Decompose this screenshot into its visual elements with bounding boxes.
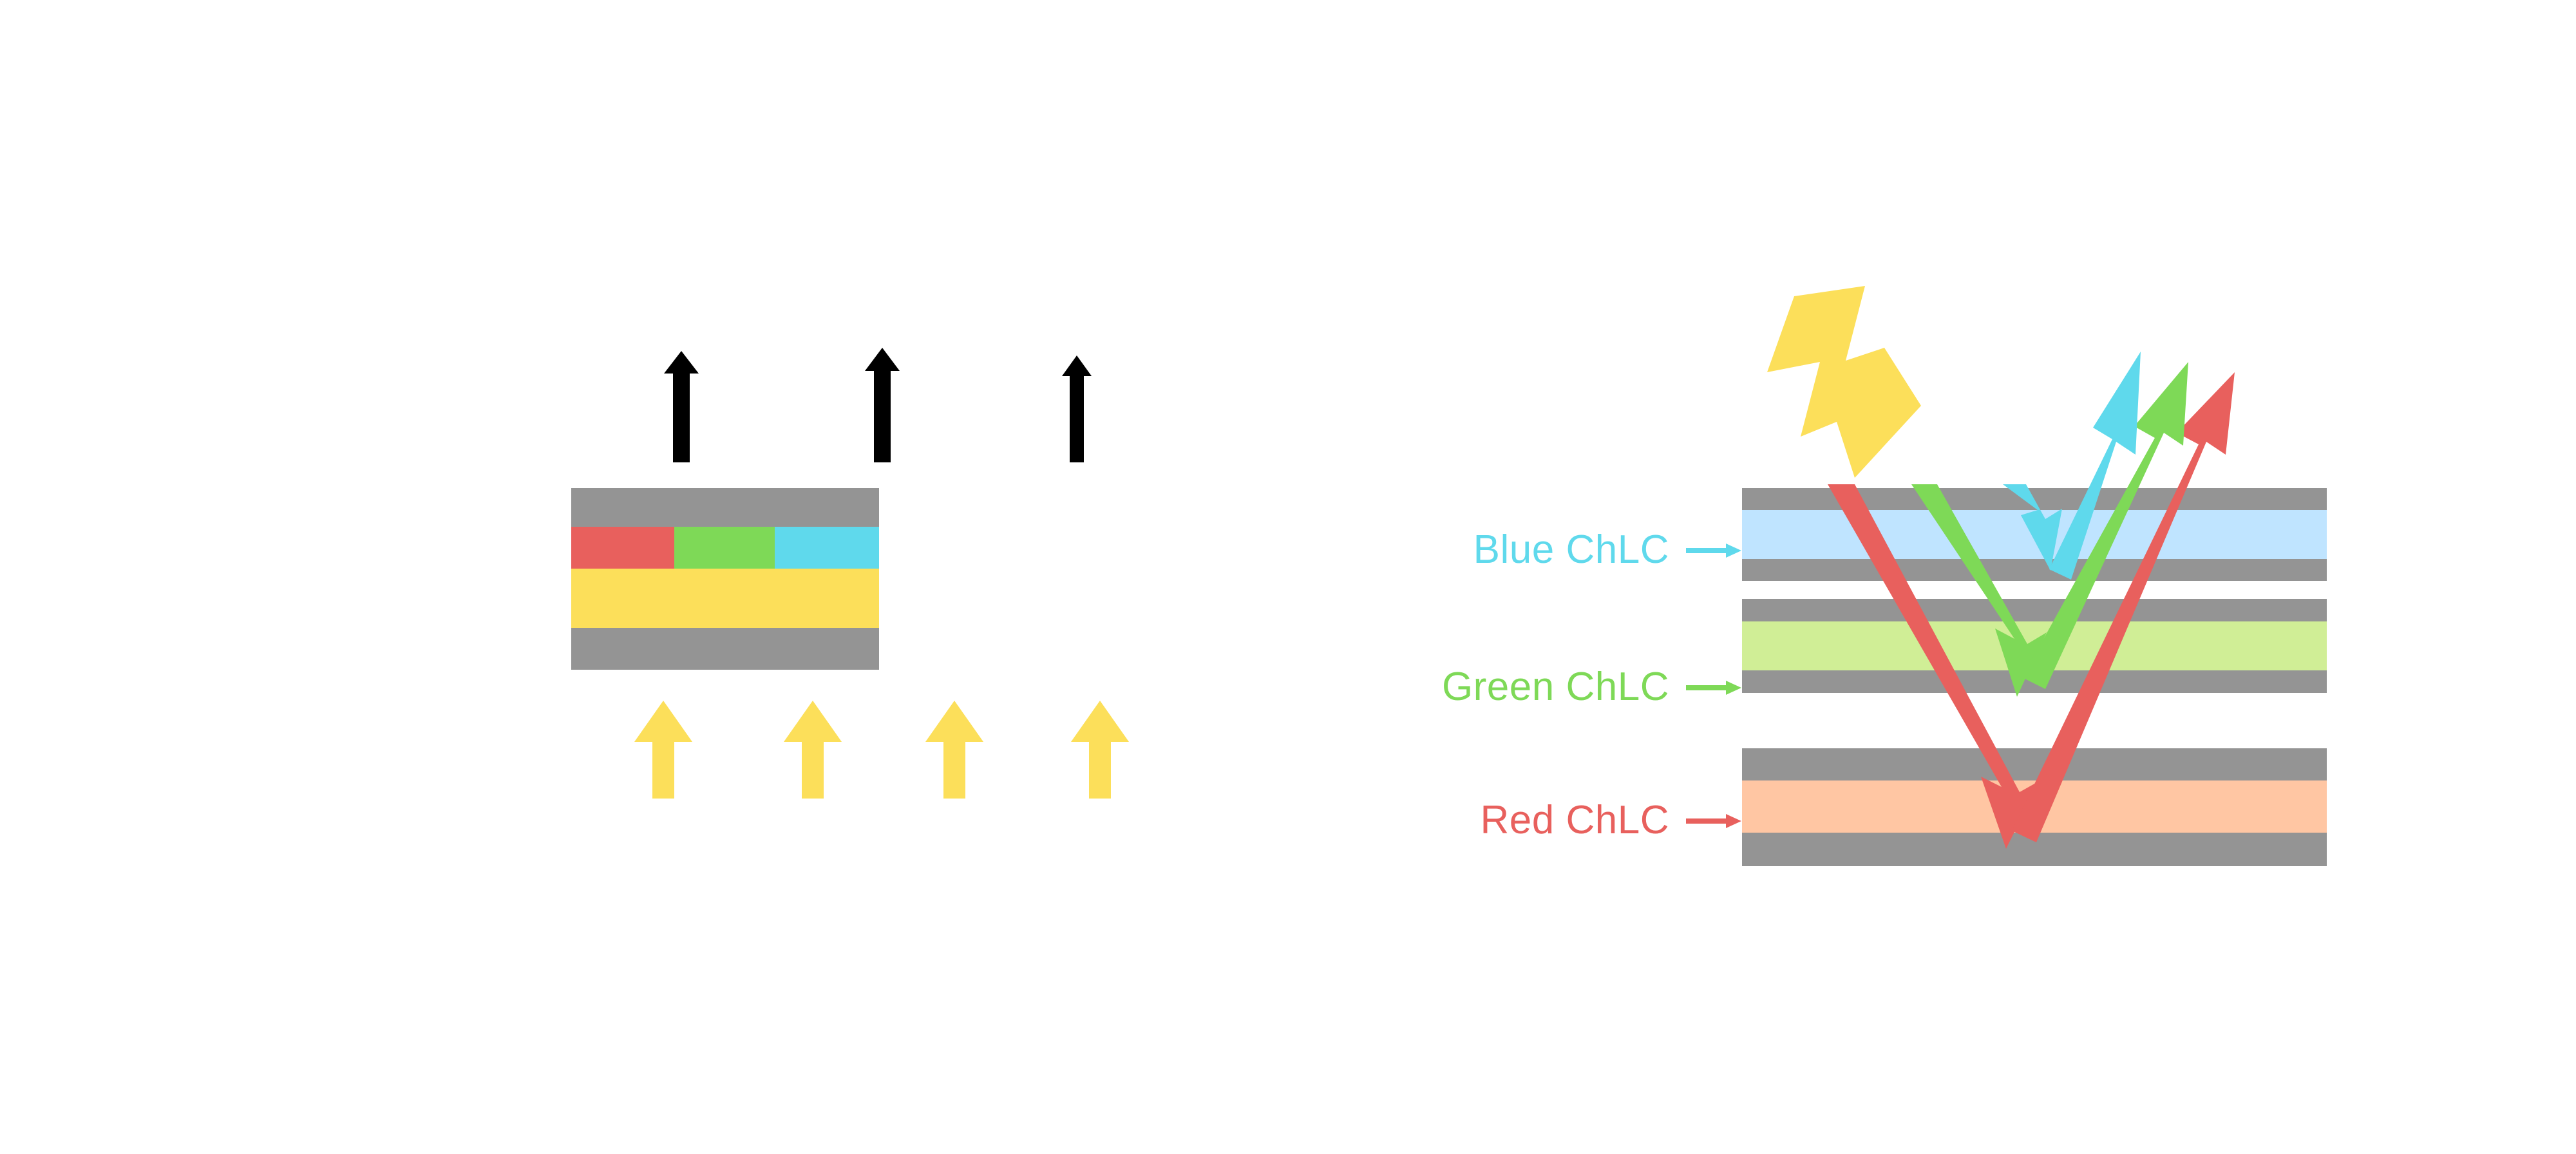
backlight-arrow-group — [634, 701, 1129, 799]
bottom-electrode-layer — [571, 628, 879, 670]
diagram-svg: Blue ChLC Green ChLC Red ChLC — [0, 0, 2576, 1154]
chlc-label-group: Blue ChLC Green ChLC Red ChLC — [1442, 527, 1741, 842]
emissive-stack-panel — [571, 348, 1129, 799]
blue-segment — [775, 527, 879, 569]
blue-bottom-substrate — [1742, 559, 2327, 581]
diagram-canvas: Blue ChLC Green ChLC Red ChLC — [0, 0, 2576, 1154]
red-chlc-label: Red ChLC — [1481, 798, 1669, 842]
green-label-arrow-icon — [1686, 681, 1741, 695]
yellow-backlight-layer — [571, 569, 879, 628]
green-top-substrate — [1742, 599, 2327, 621]
red-top-substrate — [1742, 748, 2327, 780]
red-label-arrow-icon — [1686, 814, 1741, 828]
red-emitted-arrow — [664, 351, 699, 462]
green-emitted-arrow — [865, 348, 900, 462]
backlight-arrow-3 — [925, 701, 983, 799]
blue-chlc-label: Blue ChLC — [1473, 527, 1669, 572]
green-segment — [674, 527, 775, 569]
blue-label-arrow-icon — [1686, 544, 1741, 558]
red-segment — [571, 527, 674, 569]
blue-emitted-arrow — [1062, 355, 1092, 462]
white-light-incident-arrow — [1767, 286, 1921, 478]
backlight-arrow-4 — [1071, 701, 1129, 799]
backlight-arrow-2 — [784, 701, 842, 799]
green-chlc-label: Green ChLC — [1442, 665, 1669, 709]
backlight-arrow-1 — [634, 701, 692, 799]
left-layer-stack — [571, 488, 879, 670]
emitted-arrow-group — [664, 348, 1092, 462]
reflective-stack-panel: Blue ChLC Green ChLC Red ChLC — [1442, 286, 2327, 866]
top-electrode-layer — [571, 488, 879, 527]
